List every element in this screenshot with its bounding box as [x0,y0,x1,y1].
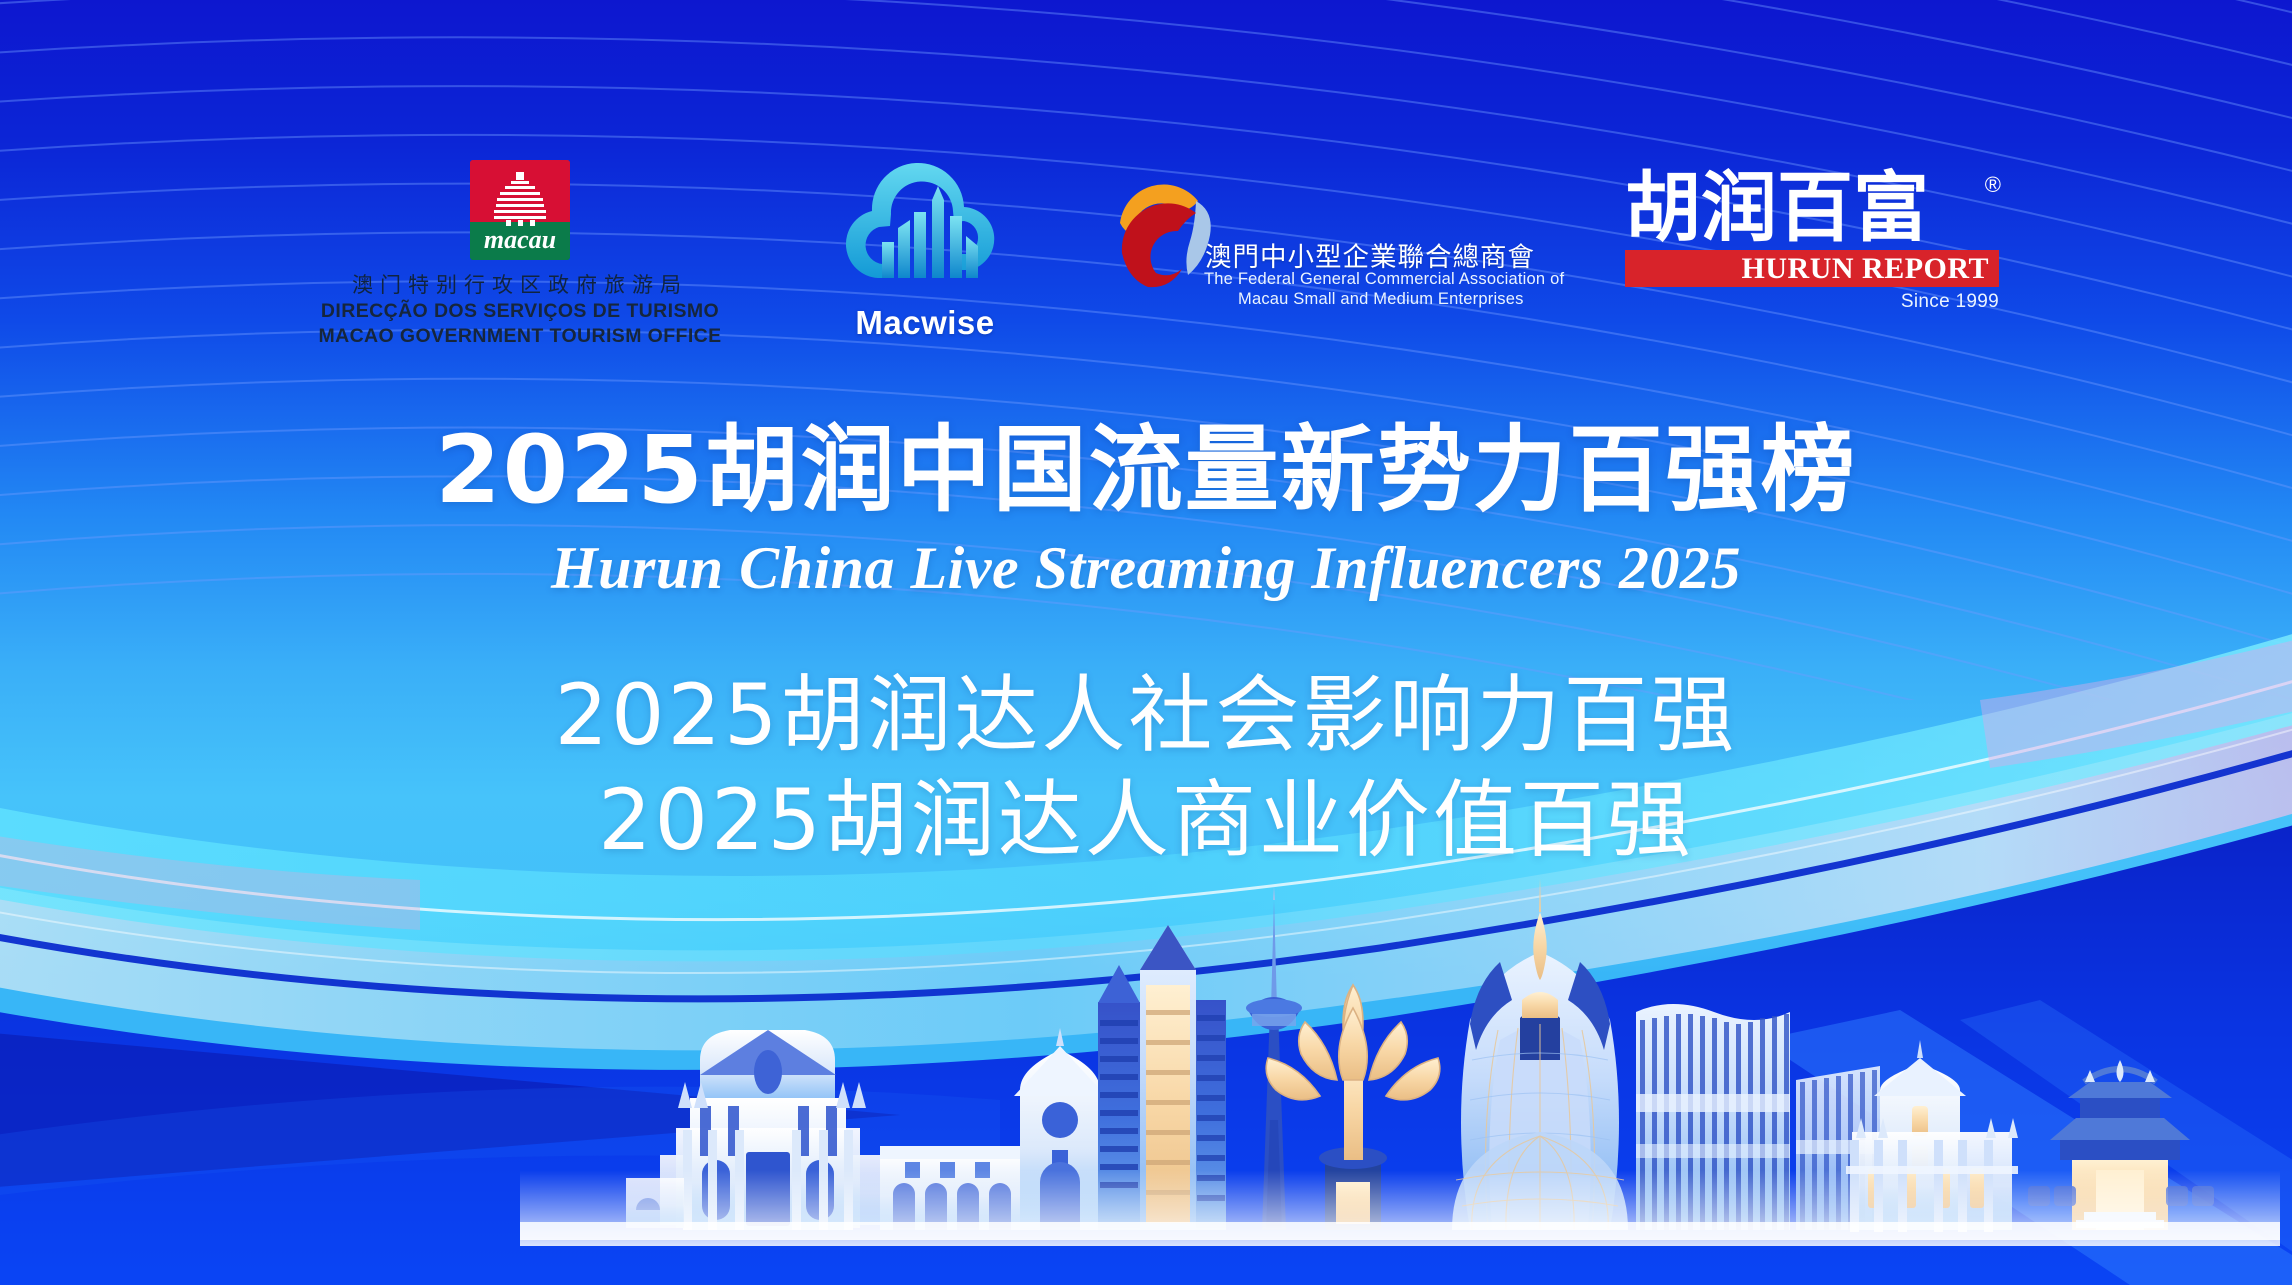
macau-government-tourism-office-logo: macau 澳门特别行攻区政府旅游局 DIRECÇÃO DOS SERVIÇOS… [310,160,730,348]
secondary-title-commercial-value: 2025胡润达人商业价值百强 [0,768,2292,874]
hurun-chinese-wordmark: 胡润百富 [1625,170,1999,246]
main-title-english: Hurun China Live Streaming Influencers 2… [0,534,2292,603]
hurun-report-label: HURUN REPORT [1742,252,1989,286]
fgca-chinese-line: 澳門中小型企業聯合總商會 [1205,235,1535,274]
hurun-report-logo: 胡润百富 ® HURUN REPORT Since 1999 [1625,170,2045,313]
hurun-report-bar: HURUN REPORT [1625,250,1999,287]
mgto-portuguese-line: DIRECÇÃO DOS SERVIÇOS DE TURISMO [310,299,730,324]
macau-lotus-mark-icon: macau [470,160,570,260]
macwise-logo: Macwise [820,150,1030,342]
registered-trademark-icon: ® [1985,172,2001,198]
macwise-label: Macwise [820,304,1030,342]
svg-text:macau: macau [484,225,556,254]
hurun-since-label: Since 1999 [1625,291,1999,313]
mgto-english-line: MACAO GOVERNMENT TOURISM OFFICE [310,324,730,349]
fgca-english-line-2: Macau Small and Medium Enterprises [1238,290,1524,309]
cloud-with-buildings-icon [820,150,1030,300]
main-title-chinese: 2025胡润中国流量新势力百强榜 [0,420,2292,522]
event-backdrop: macau 澳门特别行攻区政府旅游局 DIRECÇÃO DOS SERVIÇOS… [0,0,2292,1285]
secondary-title-social-influence: 2025胡润达人社会影响力百强 [0,663,2292,769]
sponsor-logo-row: macau 澳门特别行攻区政府旅游局 DIRECÇÃO DOS SERVIÇOS… [0,150,2292,400]
fgca-english-line-1: The Federal General Commercial Associati… [1204,270,1564,289]
title-block: 2025胡润中国流量新势力百强榜 Hurun China Live Stream… [0,420,2292,874]
mgto-chinese-line: 澳门特别行攻区政府旅游局 [310,269,730,299]
